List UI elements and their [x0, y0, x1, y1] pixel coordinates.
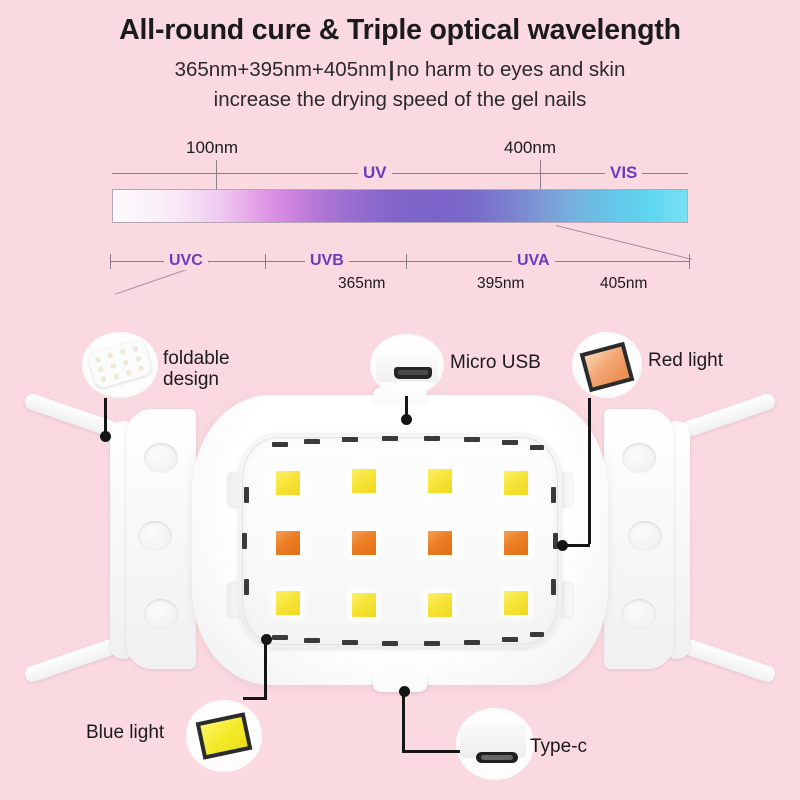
wing-hole-right-mid [628, 521, 662, 551]
led-r3c3 [426, 591, 454, 619]
leader-line-type-c-h [402, 750, 460, 753]
red-led-chip-icon [580, 342, 635, 393]
leader-dot-micro-usb [401, 414, 412, 425]
led-r1c2 [350, 467, 378, 495]
leader-dot-foldable [100, 431, 111, 442]
band-label-uvb: UVB [305, 252, 349, 270]
led-r3c4 [502, 589, 530, 617]
led-r2c1 [274, 529, 302, 557]
label-405nm: 405nm [600, 275, 647, 293]
subtitle-line-2: increase the drying speed of the gel nai… [0, 88, 800, 112]
led-r2c4 [502, 529, 530, 557]
spectrum-top-axis [112, 173, 688, 174]
leader-connector-red-light [560, 544, 590, 547]
subtitle-line-1: 365nm+395nm+405nm|no harm to eyes and sk… [0, 58, 800, 82]
led-r2c3 [426, 529, 454, 557]
led-r1c1 [274, 469, 302, 497]
led-r1c3 [426, 467, 454, 495]
band-label-uv: UV [358, 163, 392, 183]
band-label-vis: VIS [605, 163, 642, 183]
tick-uvc-uvb [265, 254, 266, 269]
device-left-wing [22, 403, 198, 675]
callout-label-red-light: Red light [648, 350, 723, 371]
pcb-board-icon [87, 339, 153, 390]
funnel-line-right [556, 225, 692, 260]
tick-bottom-left-end [110, 254, 111, 269]
thumb-foldable-design [82, 332, 158, 398]
safety-claim: no harm to eyes and skin [396, 58, 625, 81]
led-r3c1 [274, 589, 302, 617]
tick-bottom-right-end [689, 254, 690, 269]
leader-line-red-light [588, 398, 591, 544]
thumb-blue-light [186, 700, 262, 772]
label-400nm: 400nm [504, 138, 556, 158]
thumb-type-c [456, 708, 534, 780]
label-395nm: 395nm [477, 275, 524, 293]
leader-line-blue-light-h [243, 697, 267, 700]
device-right-wing [602, 403, 778, 675]
micro-usb-port-icon [376, 346, 438, 382]
wing-hole-right-top [622, 443, 656, 473]
uv-spectrum-diagram: 100nm 400nm UV VIS UVC UVB UVA 365nm 395… [100, 130, 700, 300]
device-illustration [0, 385, 800, 715]
led-plate [238, 433, 562, 649]
callout-label-micro-usb: Micro USB [450, 352, 541, 373]
wavelength-spec: 365nm+395nm+405nm [175, 58, 387, 81]
tick-uvb-uva [406, 254, 407, 269]
callout-label-blue-light: Blue light [86, 722, 164, 743]
page-title: All-round cure & Triple optical waveleng… [0, 14, 800, 47]
divider-glyph: | [387, 58, 397, 81]
spectrum-gradient-bar [112, 189, 688, 223]
leader-line-type-c-v [402, 690, 405, 752]
wing-hole-right-bottom [622, 599, 656, 629]
infographic-root: All-round cure & Triple optical waveleng… [0, 0, 800, 800]
wing-hole-left-top [144, 443, 178, 473]
led-r3c2 [350, 591, 378, 619]
leader-line-blue-light-v [264, 638, 267, 700]
band-label-uvc: UVC [164, 252, 208, 270]
led-r1c4 [502, 469, 530, 497]
type-c-port-icon [460, 724, 526, 758]
wing-hole-left-bottom [144, 599, 178, 629]
thumb-micro-usb [370, 334, 444, 396]
blue-led-chip-icon [196, 712, 253, 760]
label-100nm: 100nm [186, 138, 238, 158]
callout-label-foldable: foldable design [163, 348, 230, 391]
callout-label-type-c: Type-c [530, 736, 587, 757]
band-label-uva: UVA [512, 252, 555, 270]
label-365nm: 365nm [338, 275, 385, 293]
led-r2c2 [350, 529, 378, 557]
wing-hole-left-mid [138, 521, 172, 551]
thumb-red-light [572, 332, 642, 398]
